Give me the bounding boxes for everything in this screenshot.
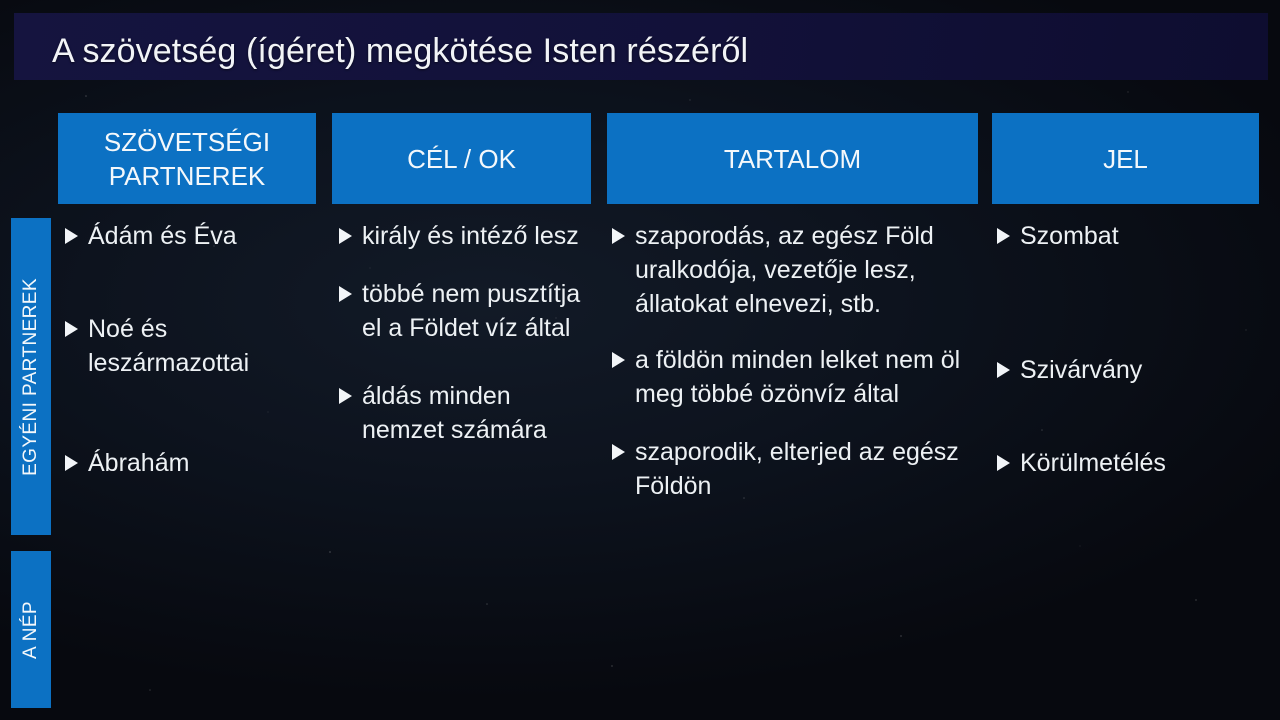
list-item-label: Szivárvány: [1020, 353, 1268, 387]
column-body-szovetsegi-partnerek: Ádám és Éva Noé és leszármazottai Ábrahá…: [64, 219, 326, 480]
list-item-label: Szombat: [1020, 219, 1268, 253]
triangle-right-icon: [339, 388, 352, 404]
list-item: Ábrahám: [64, 446, 326, 480]
triangle-right-icon: [612, 228, 625, 244]
column-header-jel: JEL: [992, 113, 1259, 204]
row-label-egyeni-partnerek: EGYÉNI PARTNEREK: [11, 218, 51, 535]
list-item-label: áldás minden nemzet számára: [362, 379, 596, 447]
list-item: Ádám és Éva: [64, 219, 326, 253]
column-body-jel: Szombat Szivárvány Körülmetélés: [996, 219, 1268, 480]
list-item: Szombat: [996, 219, 1268, 253]
list-item-label: szaporodik, elterjed az egész Földön: [635, 435, 989, 503]
list-item: áldás minden nemzet számára: [338, 379, 596, 447]
list-item: Noé és leszármazottai: [64, 312, 326, 380]
list-item-label: Ádám és Éva: [88, 219, 326, 253]
triangle-right-icon: [612, 352, 625, 368]
list-item: Körülmetélés: [996, 446, 1268, 480]
list-item-label: Körülmetélés: [1020, 446, 1268, 480]
row-label-a-nep: A NÉP: [11, 551, 51, 708]
list-item-label: Ábrahám: [88, 446, 326, 480]
triangle-right-icon: [997, 228, 1010, 244]
list-item: király és intéző lesz: [338, 219, 596, 253]
presentation-slide: A szövetség (ígéret) megkötése Isten rés…: [0, 0, 1280, 720]
list-item: szaporodás, az egész Föld uralkodója, ve…: [611, 219, 989, 321]
triangle-right-icon: [997, 455, 1010, 471]
list-item-label: szaporodás, az egész Föld uralkodója, ve…: [635, 219, 989, 321]
column-header-cel-ok: CÉL / OK: [332, 113, 591, 204]
triangle-right-icon: [65, 321, 78, 337]
column-header-szovetsegi-partnerek: SZÖVETSÉGI PARTNEREK: [58, 113, 316, 204]
triangle-right-icon: [997, 362, 1010, 378]
column-body-tartalom: szaporodás, az egész Föld uralkodója, ve…: [611, 219, 989, 503]
list-item-label: a földön minden lelket nem öl meg többé …: [635, 343, 989, 411]
list-item: többé nem pusztítja el a Földet víz álta…: [338, 277, 596, 345]
list-item: szaporodik, elterjed az egész Földön: [611, 435, 989, 503]
row-label-text: A NÉP: [20, 601, 42, 659]
triangle-right-icon: [612, 444, 625, 460]
triangle-right-icon: [65, 455, 78, 471]
list-item: Szivárvány: [996, 353, 1268, 387]
triangle-right-icon: [339, 286, 352, 302]
triangle-right-icon: [65, 228, 78, 244]
page-title: A szövetség (ígéret) megkötése Isten rés…: [52, 31, 748, 71]
list-item: a földön minden lelket nem öl meg többé …: [611, 343, 989, 411]
list-item-label: király és intéző lesz: [362, 219, 596, 253]
list-item-label: többé nem pusztítja el a Földet víz álta…: [362, 277, 596, 345]
column-body-cel-ok: király és intéző lesz többé nem pusztítj…: [338, 219, 596, 447]
list-item-label: Noé és leszármazottai: [88, 312, 326, 380]
row-label-text: EGYÉNI PARTNEREK: [20, 278, 42, 476]
slide-title-banner: A szövetség (ígéret) megkötése Isten rés…: [14, 13, 1268, 80]
column-header-tartalom: TARTALOM: [607, 113, 978, 204]
triangle-right-icon: [339, 228, 352, 244]
